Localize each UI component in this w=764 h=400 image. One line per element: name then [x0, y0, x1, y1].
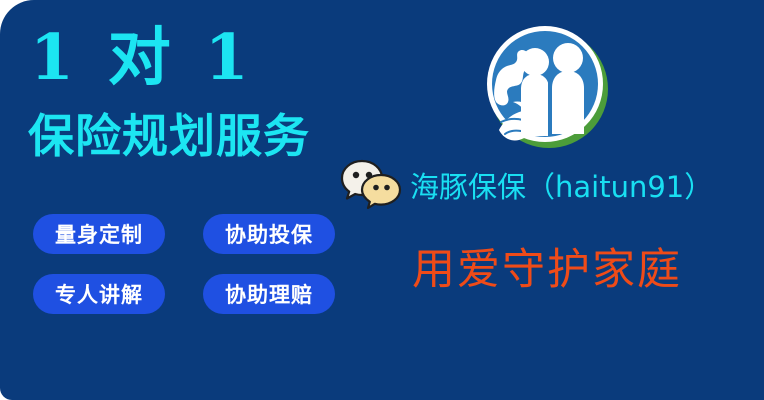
dolphin-globe-logo — [483, 22, 611, 150]
feature-pill-assist-apply[interactable]: 协助投保 — [203, 214, 335, 254]
wechat-icon — [340, 159, 404, 211]
wechat-handle-text: 海豚保保（haitun91） — [410, 164, 713, 206]
feature-pill-assist-claim[interactable]: 协助理赔 — [203, 274, 335, 314]
headline-secondary: 保险规划服务 — [28, 113, 310, 159]
headline-primary: 1 对 1 — [30, 26, 255, 89]
wechat-contact-row[interactable]: 海豚保保（haitun91） — [340, 157, 713, 213]
feature-pill-custom-plan[interactable]: 量身定制 — [33, 214, 165, 254]
dolphin-globe-icon — [483, 22, 611, 150]
feature-pill-expert-explain[interactable]: 专人讲解 — [33, 274, 165, 314]
slogan-text: 用爱守护家庭 — [412, 249, 682, 292]
promo-poster: 1 对 1 保险规划服务 量身定制 协助投保 专人讲解 协助理赔 — [0, 0, 764, 400]
